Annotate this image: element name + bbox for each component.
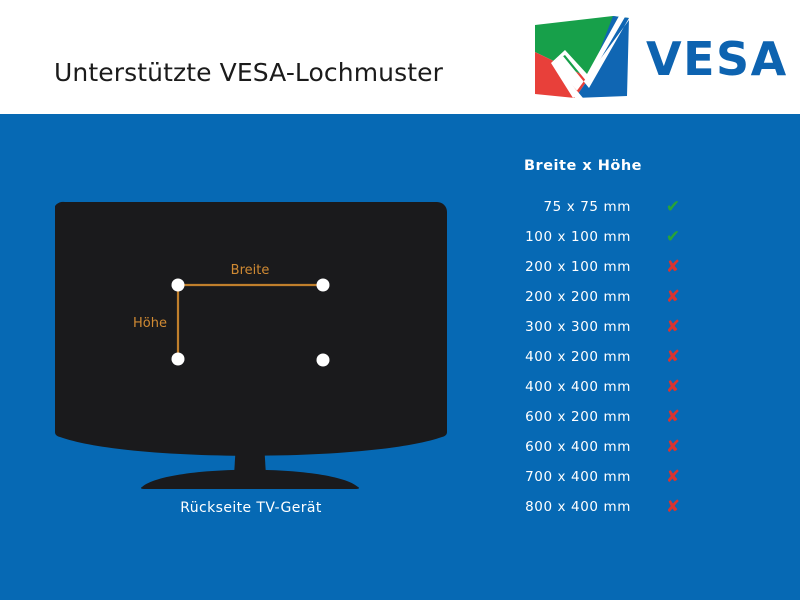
table-row: 600 x 400 mm✘ — [500, 432, 720, 462]
unsupported-cross-icon: ✘ — [653, 289, 693, 306]
tv-body-shape — [55, 202, 447, 456]
unsupported-cross-icon: ✘ — [653, 379, 693, 396]
tv-back-illustration: Breite Höhe — [40, 184, 470, 514]
vesa-size-label: 600 x 400 mm — [500, 439, 631, 455]
vesa-size-label: 100 x 100 mm — [500, 229, 631, 245]
mounting-hole-top-right — [317, 279, 330, 292]
vesa-table-header: Breite x Höhe — [524, 158, 720, 174]
table-row: 300 x 300 mm✘ — [500, 312, 720, 342]
vesa-size-label: 200 x 200 mm — [500, 289, 631, 305]
unsupported-cross-icon: ✘ — [653, 439, 693, 456]
table-row: 700 x 400 mm✘ — [500, 462, 720, 492]
table-row: 400 x 200 mm✘ — [500, 342, 720, 372]
vesa-size-label: 200 x 100 mm — [500, 259, 631, 275]
vesa-table-rows: 75 x 75 mm✔100 x 100 mm✔200 x 100 mm✘200… — [500, 192, 720, 522]
vesa-size-label: 800 x 400 mm — [500, 499, 631, 515]
page-header: Unterstützte VESA-Lochmuster VESA — [0, 0, 800, 114]
vesa-logo-mark — [533, 16, 629, 98]
vesa-size-label: 75 x 75 mm — [500, 199, 631, 215]
vesa-size-label: 600 x 200 mm — [500, 409, 631, 425]
page-title: Unterstützte VESA-Lochmuster — [54, 58, 443, 87]
vesa-size-label: 400 x 200 mm — [500, 349, 631, 365]
vesa-info-page: Unterstützte VESA-Lochmuster VESA — [0, 0, 800, 600]
vesa-logo: VESA — [533, 16, 783, 96]
tv-base-shape — [141, 470, 359, 489]
table-row: 75 x 75 mm✔ — [500, 192, 720, 222]
mounting-hole-bottom-left — [172, 353, 185, 366]
width-label: Breite — [231, 263, 270, 278]
vesa-logo-wordmark: VESA — [646, 36, 788, 82]
unsupported-cross-icon: ✘ — [653, 349, 693, 366]
table-row: 800 x 400 mm✘ — [500, 492, 720, 522]
vesa-size-label: 300 x 300 mm — [500, 319, 631, 335]
vesa-size-label: 700 x 400 mm — [500, 469, 631, 485]
unsupported-cross-icon: ✘ — [653, 499, 693, 516]
vesa-size-label: 400 x 400 mm — [500, 379, 631, 395]
mounting-hole-bottom-right — [317, 354, 330, 367]
table-row: 200 x 100 mm✘ — [500, 252, 720, 282]
mounting-hole-top-left — [172, 279, 185, 292]
supported-check-icon: ✔ — [653, 199, 693, 216]
unsupported-cross-icon: ✘ — [653, 319, 693, 336]
table-row: 100 x 100 mm✔ — [500, 222, 720, 252]
table-row: 600 x 200 mm✘ — [500, 402, 720, 432]
supported-check-icon: ✔ — [653, 229, 693, 246]
table-row: 400 x 400 mm✘ — [500, 372, 720, 402]
unsupported-cross-icon: ✘ — [653, 469, 693, 486]
unsupported-cross-icon: ✘ — [653, 409, 693, 426]
vesa-pattern-table: Breite x Höhe 75 x 75 mm✔100 x 100 mm✔20… — [500, 158, 720, 522]
table-row: 200 x 200 mm✘ — [500, 282, 720, 312]
tv-caption: Rückseite TV-Gerät — [55, 500, 447, 516]
content-panel: Breite Höhe Rückseite TV-Gerät Breite x … — [0, 114, 800, 600]
unsupported-cross-icon: ✘ — [653, 259, 693, 276]
height-label: Höhe — [133, 316, 167, 331]
